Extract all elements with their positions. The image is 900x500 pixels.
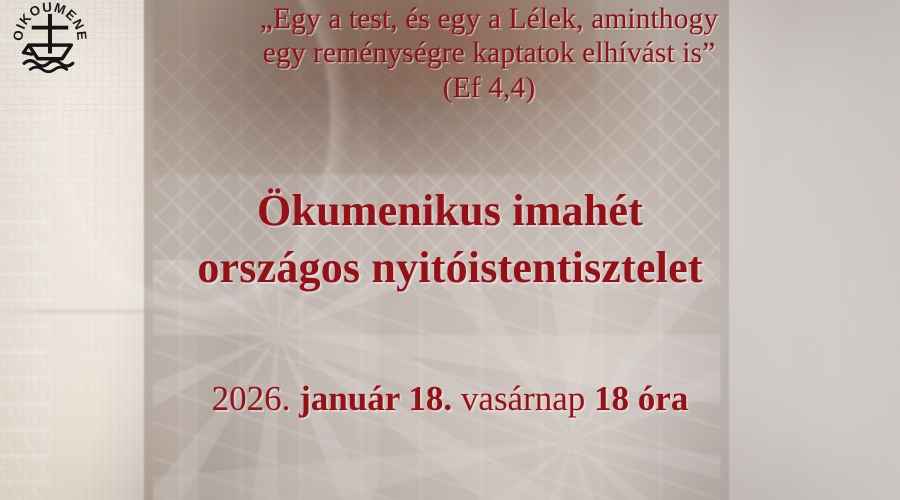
scripture-line-1: „Egy a test, és egy a Lélek, aminthogy [260, 3, 718, 35]
page-title: Ökumenikus imahét országos nyitóistentis… [0, 182, 900, 296]
scripture-line-2: egy reménységre kaptatok elhívást is” [263, 37, 716, 69]
title-line-2: országos nyitóistentisztelet [0, 239, 900, 296]
event-time: 18 óra [594, 379, 688, 418]
event-datetime: 2026. január 18. vasárnap 18 óra [0, 378, 900, 420]
event-month-day: január 18. [299, 379, 452, 418]
poster-content: OIKOUMENE „Egy a test, és egy a Lélek, a… [0, 0, 900, 500]
event-year: 2026. [212, 379, 291, 418]
scripture-quote: „Egy a test, és egy a Lélek, aminthogy e… [0, 2, 900, 105]
title-line-1: Ökumenikus imahét [257, 186, 643, 235]
scripture-reference: (Ef 4,4) [78, 71, 900, 105]
event-weekday: vasárnap [461, 379, 585, 418]
poster-root: OIKOUMENE „Egy a test, és egy a Lélek, a… [0, 0, 900, 500]
